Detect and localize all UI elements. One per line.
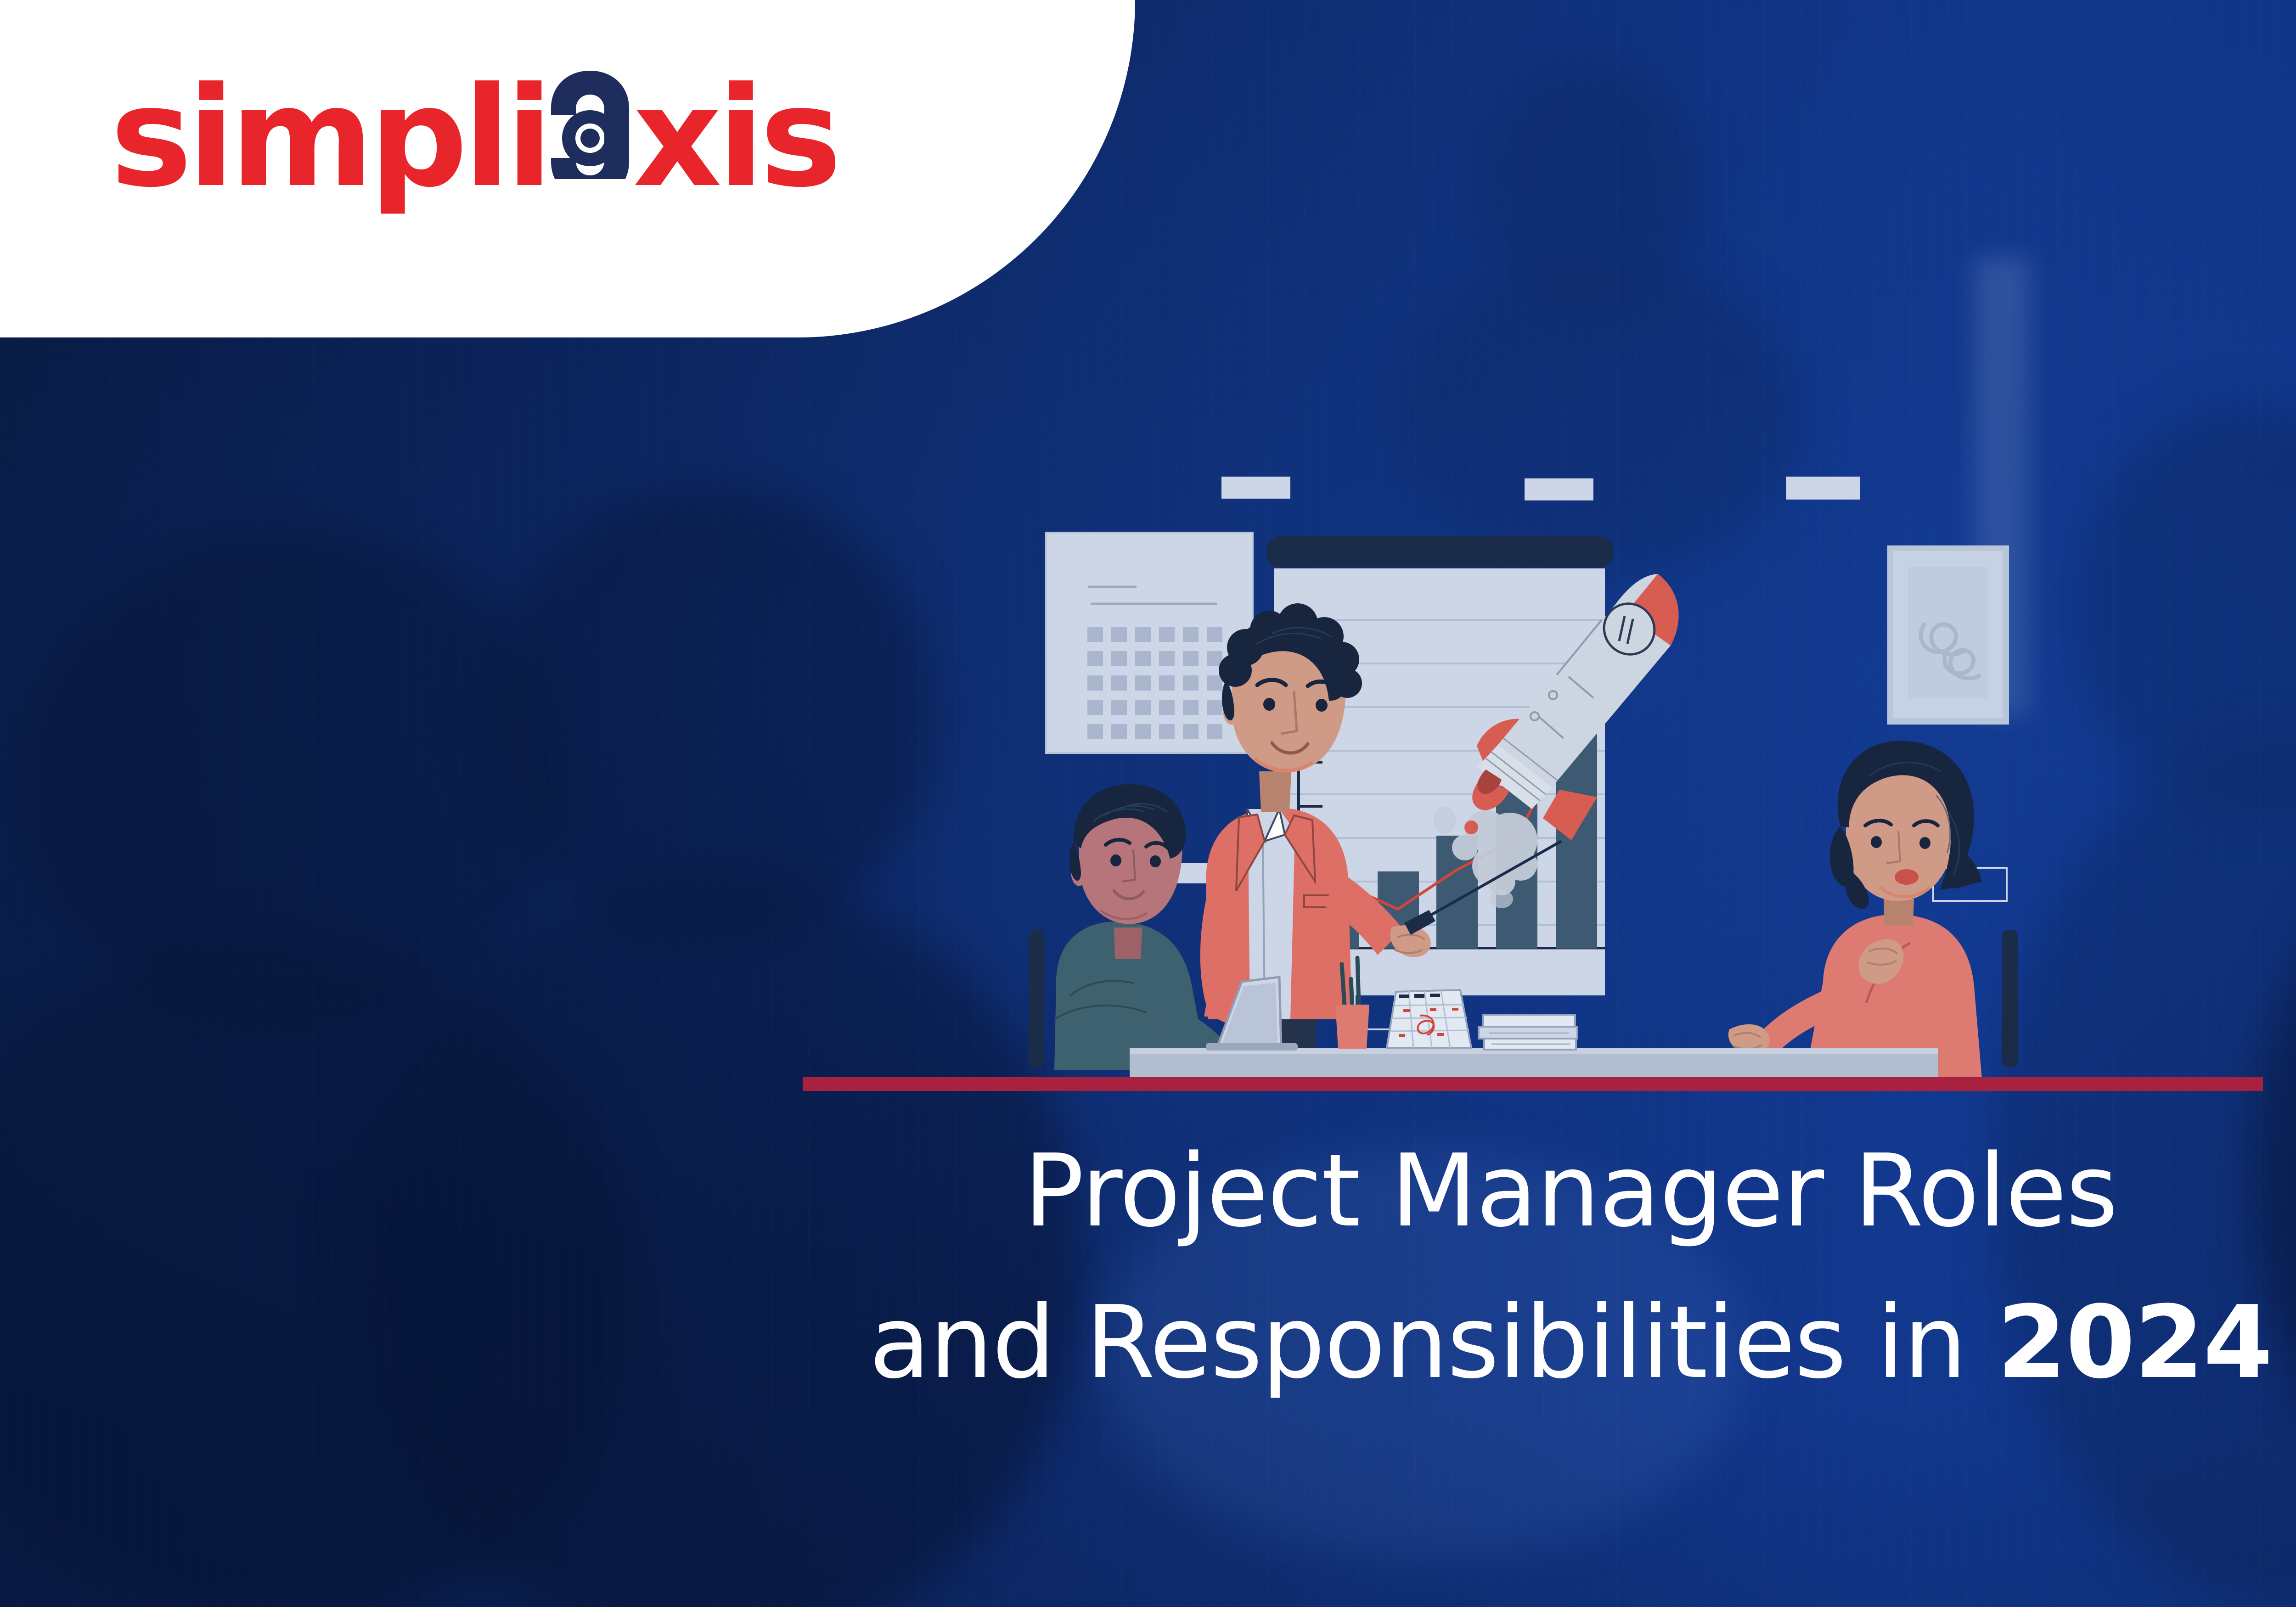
wall-picture-frame xyxy=(1887,545,2009,725)
title-line-1: Project Manager Roles xyxy=(606,1116,2296,1267)
accent-rule xyxy=(803,1077,2263,1091)
desk-calendar-sheet xyxy=(1387,990,1471,1048)
logo-card: simpli xis simpliaxis xyxy=(0,0,1135,337)
banner-canvas: simpli xis simpliaxis xyxy=(0,0,2296,1607)
page-title: Project Manager Roles and Responsibiliti… xyxy=(606,1116,2296,1419)
team-meeting-illustration xyxy=(1024,468,2076,1107)
brand-logo[interactable]: simpli xis xyxy=(110,69,837,220)
title-line-2-prefix: and Responsibilities in xyxy=(869,1285,1997,1401)
title-line-2: and Responsibilities in 2024 xyxy=(606,1267,2296,1419)
seated-woman xyxy=(1728,741,1982,1079)
title-year: 2024 xyxy=(1997,1285,2272,1401)
logo-accessible-name: simpliaxis xyxy=(0,0,0,0)
logo-a-glyph-icon xyxy=(548,71,632,179)
wall-calendar xyxy=(1046,533,1253,753)
logo-text-right: xis xyxy=(633,69,837,207)
logo-text-left: simpli xyxy=(110,69,548,207)
book-stack xyxy=(1479,1015,1577,1050)
